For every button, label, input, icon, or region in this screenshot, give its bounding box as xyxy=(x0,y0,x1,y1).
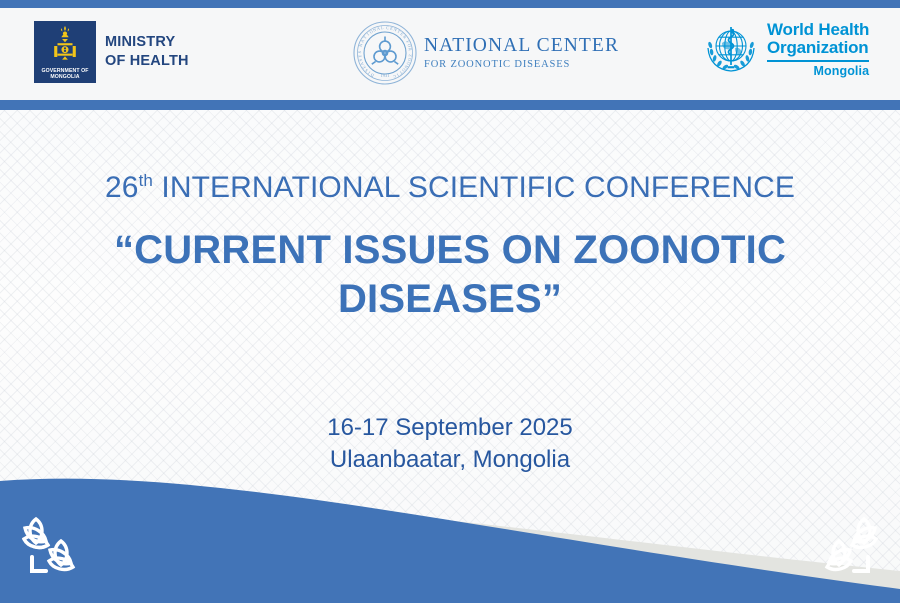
conference-subtitle: 26th INTERNATIONAL SCIENTIFIC CONFERENCE xyxy=(0,170,900,205)
who-emblem-icon xyxy=(702,21,760,79)
who-divider-rule xyxy=(767,60,869,62)
who-logo: World Health Organization Mongolia xyxy=(702,21,869,79)
top-accent-bar xyxy=(0,0,900,8)
svg-text:C: C xyxy=(392,74,397,80)
title-block: 26th INTERNATIONAL SCIENTIFIC CONFERENCE… xyxy=(0,170,900,324)
event-dates: 16-17 September 2025 xyxy=(0,412,900,444)
mongolia-state-emblem-icon: GOVERNMENT OF MONGOLIA xyxy=(34,21,96,83)
emblem-caption-mongolia: MONGOLIA xyxy=(34,75,96,80)
wave-blue-band xyxy=(0,479,900,603)
national-center-zoonotic-diseases-logo: N A T I O N A L C E N T E R F O R Z O O xyxy=(352,20,619,86)
conference-subtitle-text: INTERNATIONAL SCIENTIFIC CONFERENCE xyxy=(153,171,795,204)
nczd-name-line2: FOR ZOONOTIC DISEASES xyxy=(424,59,619,70)
who-wordmark: World Health Organization Mongolia xyxy=(767,21,869,78)
bottom-wave-decoration xyxy=(0,463,900,603)
ministry-of-health-logo: GOVERNMENT OF MONGOLIA MINISTRY OF HEALT… xyxy=(34,21,189,83)
svg-text:1931: 1931 xyxy=(381,73,390,78)
conference-ordinal-suffix: th xyxy=(139,171,153,190)
nczd-biohazard-seal-icon: N A T I O N A L C E N T E R F O R Z O O xyxy=(352,20,418,86)
header-divider-bar xyxy=(0,100,900,110)
nczd-name-line1: NATIONAL CENTER xyxy=(424,36,619,56)
conference-number: 26 xyxy=(105,171,139,204)
who-country-label: Mongolia xyxy=(767,64,869,78)
ministry-of-health-label: MINISTRY OF HEALTH xyxy=(105,33,189,71)
emblem-caption-government: GOVERNMENT OF xyxy=(34,69,96,74)
conference-theme-title: “CURRENT ISSUES ON ZOONOTIC DISEASES” xyxy=(0,226,900,324)
nczd-wordmark: NATIONAL CENTER FOR ZOONOTIC DISEASES xyxy=(424,36,619,69)
mongolian-ulzii-knot-ornament-right xyxy=(810,511,884,585)
who-name-label: World Health Organization xyxy=(767,21,869,57)
mongolian-ulzii-knot-ornament-left xyxy=(16,511,90,585)
conference-title-slide: GOVERNMENT OF MONGOLIA MINISTRY OF HEALT… xyxy=(0,0,900,603)
